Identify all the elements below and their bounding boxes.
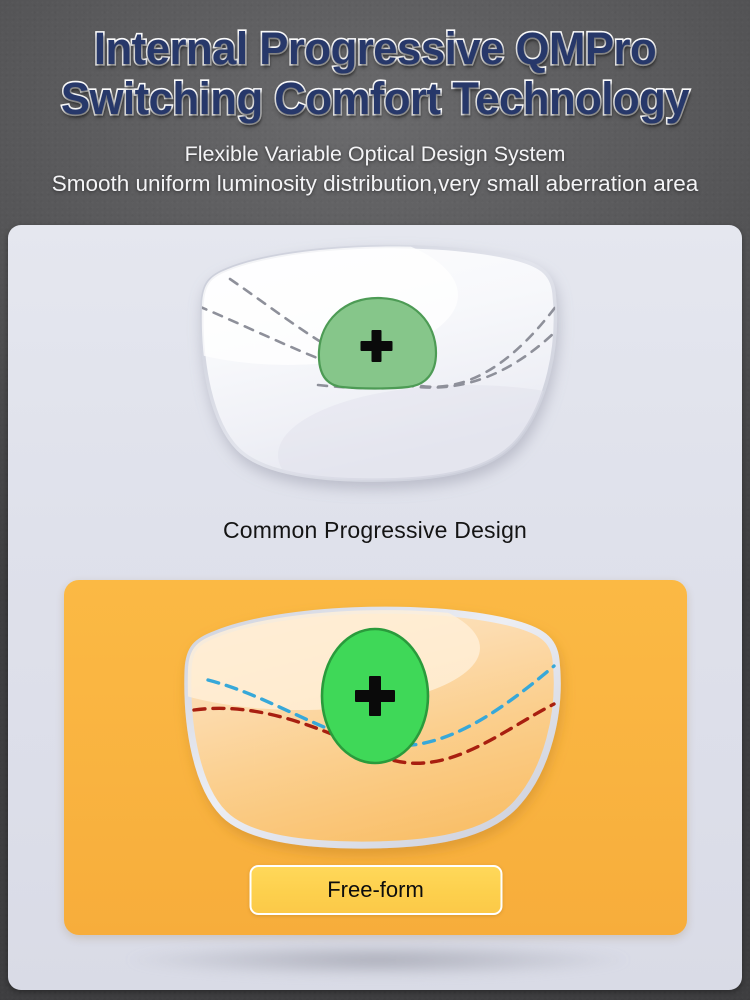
- clear-vision-zone: [322, 629, 428, 763]
- free-form-lens: [150, 598, 600, 848]
- page-subtitle-line-1: Flexible Variable Optical Design System: [0, 140, 750, 169]
- page-title: Internal Progressive QMPro Switching Com…: [21, 24, 729, 124]
- page-title-line-2: Switching Comfort Technology: [21, 74, 729, 124]
- common-lens-diagram: [168, 235, 588, 495]
- free-form-button[interactable]: Free-form: [249, 865, 502, 915]
- promo-page: Internal Progressive QMPro Switching Com…: [0, 0, 750, 1000]
- page-subtitle-line-2: Smooth uniform luminosity distribution,v…: [0, 169, 750, 198]
- common-progressive-caption: Common Progressive Design: [8, 517, 742, 544]
- page-title-line-1: Internal Progressive QMPro: [21, 24, 729, 74]
- free-form-panel: Free-form: [64, 580, 687, 935]
- card-floor-shadow: [128, 943, 628, 977]
- content-card: Common Progressive Design: [8, 225, 742, 990]
- page-subtitle: Flexible Variable Optical Design System …: [0, 140, 750, 198]
- common-progressive-lens: [168, 235, 588, 495]
- free-form-lens-diagram: [150, 598, 600, 848]
- page-header: Internal Progressive QMPro Switching Com…: [0, 0, 750, 198]
- common-progressive-panel: Common Progressive Design: [8, 225, 742, 555]
